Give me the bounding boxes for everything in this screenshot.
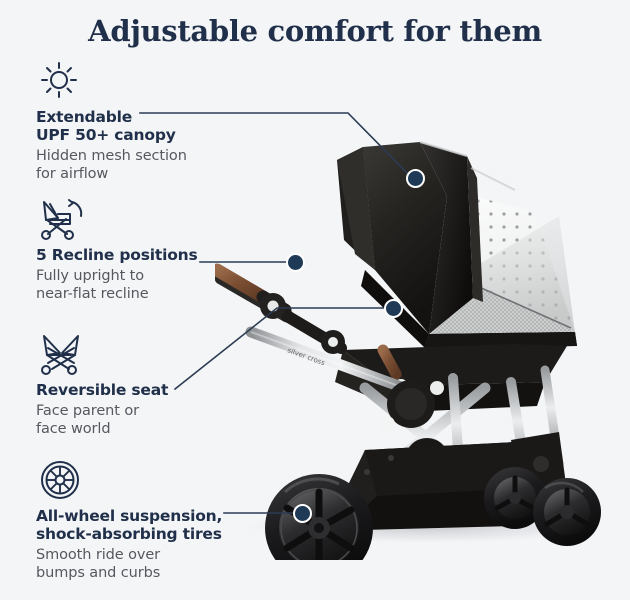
infographic-canvas: Adjustable comfort for them — [0, 0, 630, 600]
feature-heading-line1: All-wheel suspension, — [36, 507, 251, 525]
wheel-suspension-marker[interactable] — [293, 504, 312, 523]
feature-sub-line2: bumps and curbs — [36, 564, 251, 582]
feature-heading-line2: shock-absorbing tires — [36, 525, 251, 543]
feature-sub-line2: near-flat recline — [36, 285, 251, 303]
reversible-seat-marker[interactable] — [384, 299, 403, 318]
feature-sub-line2: for airflow — [36, 165, 251, 183]
stroller-recline-icon — [36, 196, 82, 240]
feature-subtext: Hidden mesh section for airflow — [36, 147, 251, 183]
sun-icon — [36, 58, 82, 102]
feature-heading: Extendable UPF 50+ canopy — [36, 108, 251, 144]
feature-recline-positions: 5 Recline positions Fully upright to nea… — [36, 196, 251, 303]
wheel-icon — [36, 457, 82, 501]
feature-heading-line2: UPF 50+ canopy — [36, 126, 251, 144]
feature-extendable-canopy: Extendable UPF 50+ canopy Hidden mesh se… — [36, 58, 251, 183]
feature-heading-line1: 5 Recline positions — [36, 246, 251, 264]
feature-sub-line1: Smooth ride over — [36, 546, 251, 564]
canopy-marker[interactable] — [406, 169, 425, 188]
feature-heading: All-wheel suspension, shock-absorbing ti… — [36, 507, 251, 543]
feature-sub-line1: Face parent or — [36, 402, 251, 420]
reversible-seat-icon — [36, 331, 82, 375]
page-title: Adjustable comfort for them — [0, 14, 630, 48]
feature-sub-line1: Hidden mesh section — [36, 147, 251, 165]
feature-subtext: Smooth ride over bumps and curbs — [36, 546, 251, 582]
feature-subtext: Face parent or face world — [36, 402, 251, 438]
product-image: silver cross — [215, 120, 630, 560]
feature-all-wheel-suspension: All-wheel suspension, shock-absorbing ti… — [36, 457, 251, 582]
feature-sub-line2: face world — [36, 420, 251, 438]
feature-sub-line1: Fully upright to — [36, 267, 251, 285]
feature-heading: 5 Recline positions — [36, 246, 251, 264]
feature-heading-line1: Reversible seat — [36, 381, 251, 399]
feature-heading: Reversible seat — [36, 381, 251, 399]
recline-marker[interactable] — [286, 253, 305, 272]
feature-reversible-seat: Reversible seat Face parent or face worl… — [36, 331, 251, 438]
feature-subtext: Fully upright to near-flat recline — [36, 267, 251, 303]
feature-heading-line1: Extendable — [36, 108, 251, 126]
